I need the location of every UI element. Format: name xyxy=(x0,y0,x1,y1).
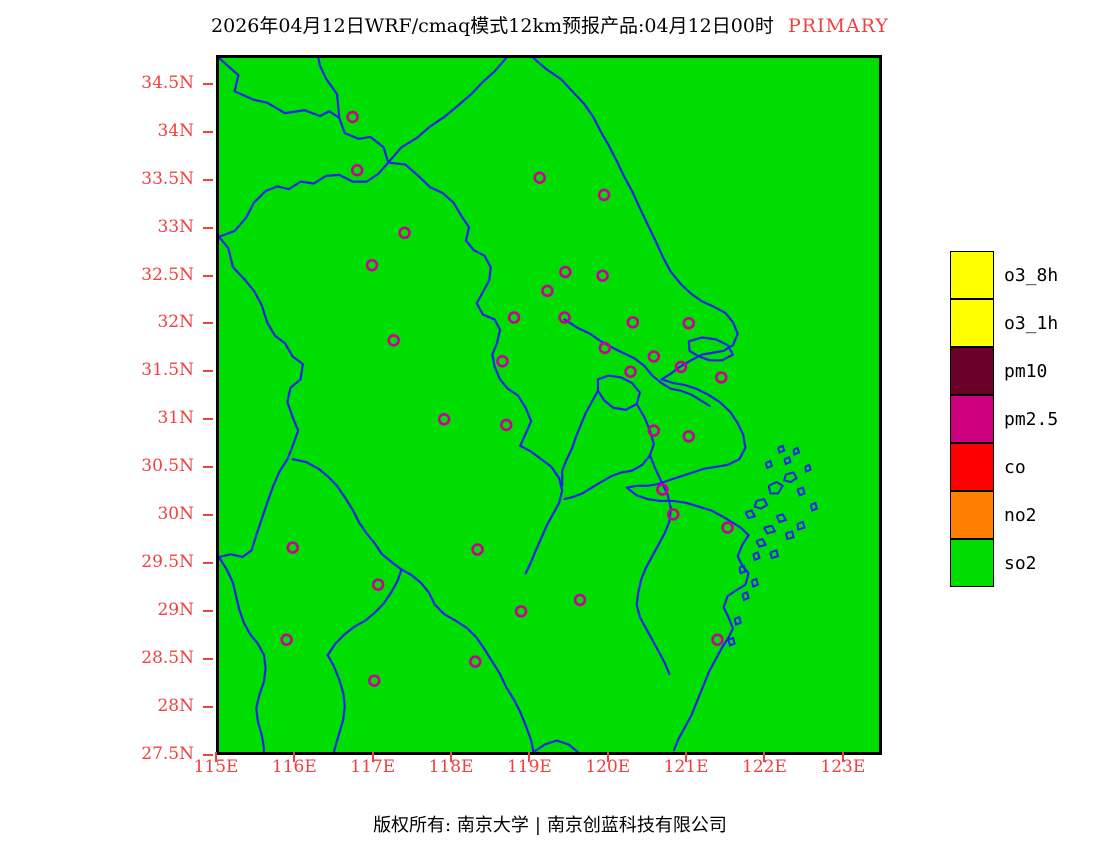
lon-tick-mark xyxy=(528,752,530,762)
legend-color-swatch xyxy=(950,347,994,395)
legend-item-label: co xyxy=(1004,457,1026,478)
legend-item-label: no2 xyxy=(1004,505,1037,526)
pollutant-legend: o3_8ho3_1hpm10pm2.5cono2so2 xyxy=(950,251,1096,587)
legend-color-swatch xyxy=(950,251,994,299)
legend-color-swatch xyxy=(950,299,994,347)
lon-tick-mark xyxy=(842,752,844,762)
legend-color-swatch xyxy=(950,539,994,587)
lon-tick-mark xyxy=(372,752,374,762)
legend-item-pm10[interactable]: pm10 xyxy=(950,347,1096,395)
lon-tick-mark xyxy=(763,752,765,762)
lon-tick-mark xyxy=(293,752,295,762)
copyright-footer: 版权所有: 南京大学|南京创蓝科技有限公司 xyxy=(0,811,1100,837)
legend-item-co[interactable]: co xyxy=(950,443,1096,491)
legend-item-label: pm2.5 xyxy=(1004,409,1058,430)
lon-tick-mark xyxy=(607,752,609,762)
lon-tick-mark xyxy=(685,752,687,762)
legend-item-label: so2 xyxy=(1004,553,1037,574)
legend-item-pm2-5[interactable]: pm2.5 xyxy=(950,395,1096,443)
legend-item-so2[interactable]: so2 xyxy=(950,539,1096,587)
legend-item-label: pm10 xyxy=(1004,361,1047,382)
lon-tick-mark xyxy=(450,752,452,762)
legend-color-swatch xyxy=(950,491,994,539)
footer-separator: | xyxy=(529,815,547,836)
legend-item-o3-8h[interactable]: o3_8h xyxy=(950,251,1096,299)
longitude-axis: 115E116E117E118E119E120E121E122E123E xyxy=(0,0,1100,850)
legend-color-swatch xyxy=(950,395,994,443)
legend-color-swatch xyxy=(950,443,994,491)
legend-item-label: o3_8h xyxy=(1004,265,1058,286)
legend-item-label: o3_1h xyxy=(1004,313,1058,334)
lon-tick-mark xyxy=(215,752,217,762)
copyright-company: 南京创蓝科技有限公司 xyxy=(547,815,727,836)
legend-item-no2[interactable]: no2 xyxy=(950,491,1096,539)
copyright-owner: 版权所有: 南京大学 xyxy=(373,815,529,836)
legend-item-o3-1h[interactable]: o3_1h xyxy=(950,299,1096,347)
